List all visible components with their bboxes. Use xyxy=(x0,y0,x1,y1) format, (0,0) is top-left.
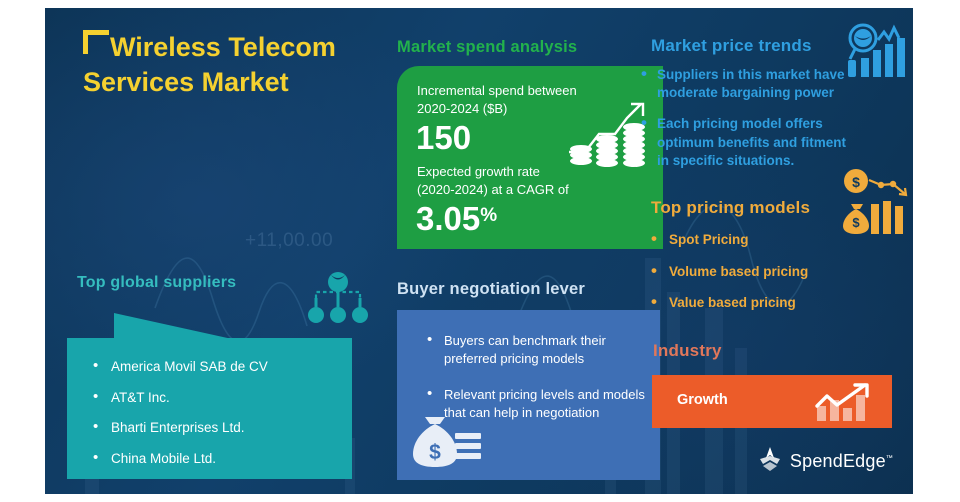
list-item: Each pricing model offers optimum benefi… xyxy=(641,115,856,170)
list-item: Volume based pricing xyxy=(651,265,808,279)
top-pricing-models-list: Spot Pricing Volume based pricing Value … xyxy=(651,233,808,328)
brand-name: SpendEdge™ xyxy=(790,451,893,472)
cagr-percent-sign: % xyxy=(480,205,497,226)
incremental-spend-value: 150 xyxy=(416,121,471,154)
trademark-symbol: ™ xyxy=(886,455,893,462)
list-item: Value based pricing xyxy=(651,296,808,310)
cagr-value-wrap: 3.05% xyxy=(416,202,497,235)
svg-text:$: $ xyxy=(429,441,441,464)
industry-status-label: Growth xyxy=(677,392,728,408)
buyer-negotiation-panel: Buyers can benchmark their preferred pri… xyxy=(397,310,660,480)
suppliers-heading: Top global suppliers xyxy=(77,274,236,292)
corner-bracket-icon xyxy=(83,30,109,54)
callout-tail xyxy=(114,313,232,339)
spendedge-logo-mark xyxy=(757,447,783,476)
suppliers-list: America Movil SAB de CV AT&T Inc. Bharti… xyxy=(67,338,352,465)
suppliers-callout: America Movil SAB de CV AT&T Inc. Bharti… xyxy=(67,313,352,479)
suppliers-box: America Movil SAB de CV AT&T Inc. Bharti… xyxy=(67,338,352,479)
brand-logo: SpendEdge™ xyxy=(757,447,893,476)
top-pricing-models-heading: Top pricing models xyxy=(651,198,810,218)
buyer-negotiation-heading: Buyer negotiation lever xyxy=(397,280,585,299)
money-bag-declining-chart-icon: $ $ xyxy=(843,168,913,239)
list-item: America Movil SAB de CV xyxy=(93,360,352,374)
magnifier-bar-chart-icon xyxy=(845,22,911,89)
coin-stacks-growth-icon xyxy=(565,94,651,177)
svg-text:$: $ xyxy=(852,215,860,230)
cagr-value: 3.05 xyxy=(416,200,480,237)
list-item: Spot Pricing xyxy=(651,233,808,247)
list-item: Suppliers in this market have moderate b… xyxy=(641,66,856,102)
brand-name-text: SpendEdge xyxy=(790,451,886,471)
list-item: China Mobile Ltd. xyxy=(93,452,352,466)
market-spend-panel: Incremental spend between 2020-2024 ($B)… xyxy=(397,66,663,249)
buyer-negotiation-list: Buyers can benchmark their preferred pri… xyxy=(397,310,660,421)
growth-rate-label: Expected growth rate (2020-2024) at a CA… xyxy=(417,163,569,198)
industry-heading: Industry xyxy=(653,341,722,361)
money-bag-icon: $ xyxy=(405,407,483,474)
market-price-trends-heading: Market price trends xyxy=(651,36,812,56)
background-watermark: +11,00.00 xyxy=(245,230,333,252)
status-badge: Growth xyxy=(652,375,892,428)
list-item: Buyers can benchmark their preferred pri… xyxy=(427,332,646,367)
upward-trend-bars-icon xyxy=(813,382,879,427)
page-title-line2: Services Market xyxy=(83,65,383,100)
page-title: Wireless Telecom Services Market xyxy=(83,30,383,100)
market-spend-heading: Market spend analysis xyxy=(397,38,577,57)
infographic-board: 0 0 +11,00.00 Wireless Telecom Services … xyxy=(45,8,913,494)
page-title-line1: Wireless Telecom xyxy=(110,32,336,62)
market-price-trends-list: Suppliers in this market have moderate b… xyxy=(641,66,856,183)
incremental-spend-label: Incremental spend between 2020-2024 ($B) xyxy=(417,82,577,117)
infographic-canvas: 0 0 +11,00.00 Wireless Telecom Services … xyxy=(0,0,960,502)
list-item: Bharti Enterprises Ltd. xyxy=(93,421,352,435)
svg-text:$: $ xyxy=(852,174,860,190)
list-item: AT&T Inc. xyxy=(93,391,352,405)
